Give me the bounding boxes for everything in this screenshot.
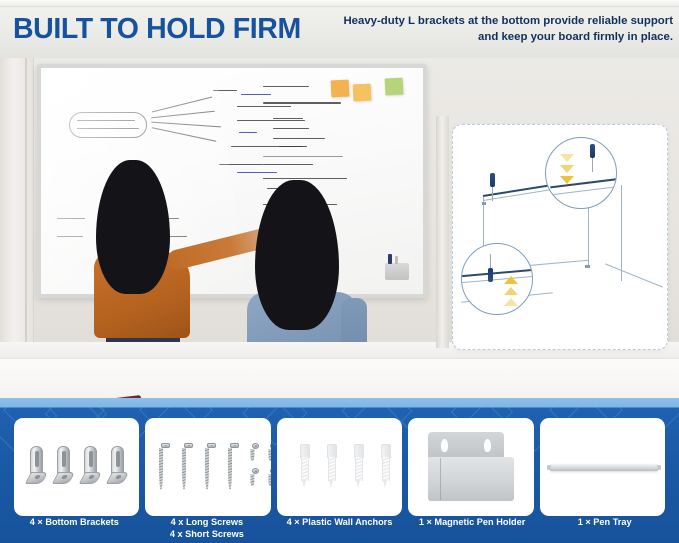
header-description: Heavy-duty L brackets at the bottom prov… <box>328 14 673 45</box>
caption-wall-anchors: 4 × Plastic Wall Anchors <box>273 516 406 542</box>
sticky-note-amber <box>353 84 372 102</box>
pen-holder-on-board <box>385 263 409 280</box>
page-title: BUILT TO HOLD FIRM <box>13 12 301 46</box>
l-bracket-icon <box>82 446 99 484</box>
person-hair <box>96 160 170 294</box>
wall-anchor-icon <box>353 444 365 488</box>
ink-stroke <box>279 146 303 147</box>
ink-stroke <box>237 106 291 107</box>
panel-divider <box>436 116 449 348</box>
mount-point-marker <box>585 265 590 268</box>
ink-stroke <box>263 102 341 104</box>
caption-pen-holder: 1 × Magnetic Pen Holder <box>406 516 539 542</box>
ink-stroke <box>273 138 325 139</box>
corner-vertical-line <box>621 185 622 281</box>
callout-board-line-2 <box>461 276 533 284</box>
sticky-note-green <box>385 78 404 96</box>
arrow-up-icon <box>504 298 518 306</box>
floor-line-right <box>605 263 663 287</box>
callout-board-line-2 <box>550 186 617 196</box>
pen-tray-icon <box>550 464 658 471</box>
caption-pen-tray: 1 × Pen Tray <box>538 516 671 542</box>
ink-stroke-blue <box>241 94 271 95</box>
wall-anchor-icon <box>299 444 311 488</box>
parts-list-band: 4 × Bottom Brackets 4 x Long Screws 4 x … <box>0 398 679 543</box>
arrow-up-icon <box>504 276 518 284</box>
l-bracket-icon <box>28 446 45 484</box>
caption-screws: 4 x Long Screws 4 x Short Screws <box>141 516 274 542</box>
ink-divider <box>263 156 343 157</box>
ink-stroke <box>273 128 309 129</box>
installation-diagram <box>452 124 668 350</box>
ink-stroke <box>237 120 305 121</box>
header-banner: BUILT TO HOLD FIRM Heavy-duty L brackets… <box>0 0 679 58</box>
arrow-down-icon <box>560 165 574 173</box>
parts-captions-row: 4 × Bottom Brackets 4 x Long Screws 4 x … <box>0 516 679 542</box>
ink-stroke-blue <box>239 132 257 133</box>
part-card-wall-anchors[interactable] <box>277 418 402 516</box>
l-bracket-icon <box>55 446 72 484</box>
callout-board-line <box>461 269 533 277</box>
wall-seam <box>25 58 27 358</box>
wall-anchor-icon <box>326 444 338 488</box>
sticky-note-orange <box>331 80 350 98</box>
wall-left-panel <box>0 58 34 358</box>
l-bracket-icon <box>109 446 126 484</box>
part-card-pen-tray[interactable] <box>540 418 665 516</box>
mount-point-marker <box>482 202 486 205</box>
parts-card-row <box>0 418 679 516</box>
ink-stroke-blue <box>237 172 277 173</box>
header-top-stripe <box>0 0 679 7</box>
conference-table <box>0 358 679 398</box>
caption-brackets: 4 × Bottom Brackets <box>8 516 141 542</box>
part-card-pen-holder[interactable] <box>408 418 533 516</box>
callout-top-circle <box>545 137 617 209</box>
person-hair <box>255 180 339 330</box>
lifestyle-photo <box>0 58 679 398</box>
arrow-up-icon <box>504 287 518 295</box>
wall-anchor-icon <box>380 444 392 488</box>
arrow-down-icon <box>560 176 574 184</box>
product-infographic: BUILT TO HOLD FIRM Heavy-duty L brackets… <box>0 0 679 543</box>
ink-stroke <box>263 86 309 87</box>
callout-bottom-circle <box>461 243 533 315</box>
arrow-down-icon <box>560 154 574 162</box>
part-card-screws[interactable] <box>145 418 270 516</box>
part-card-brackets[interactable] <box>14 418 139 516</box>
ink-stroke <box>263 164 313 165</box>
